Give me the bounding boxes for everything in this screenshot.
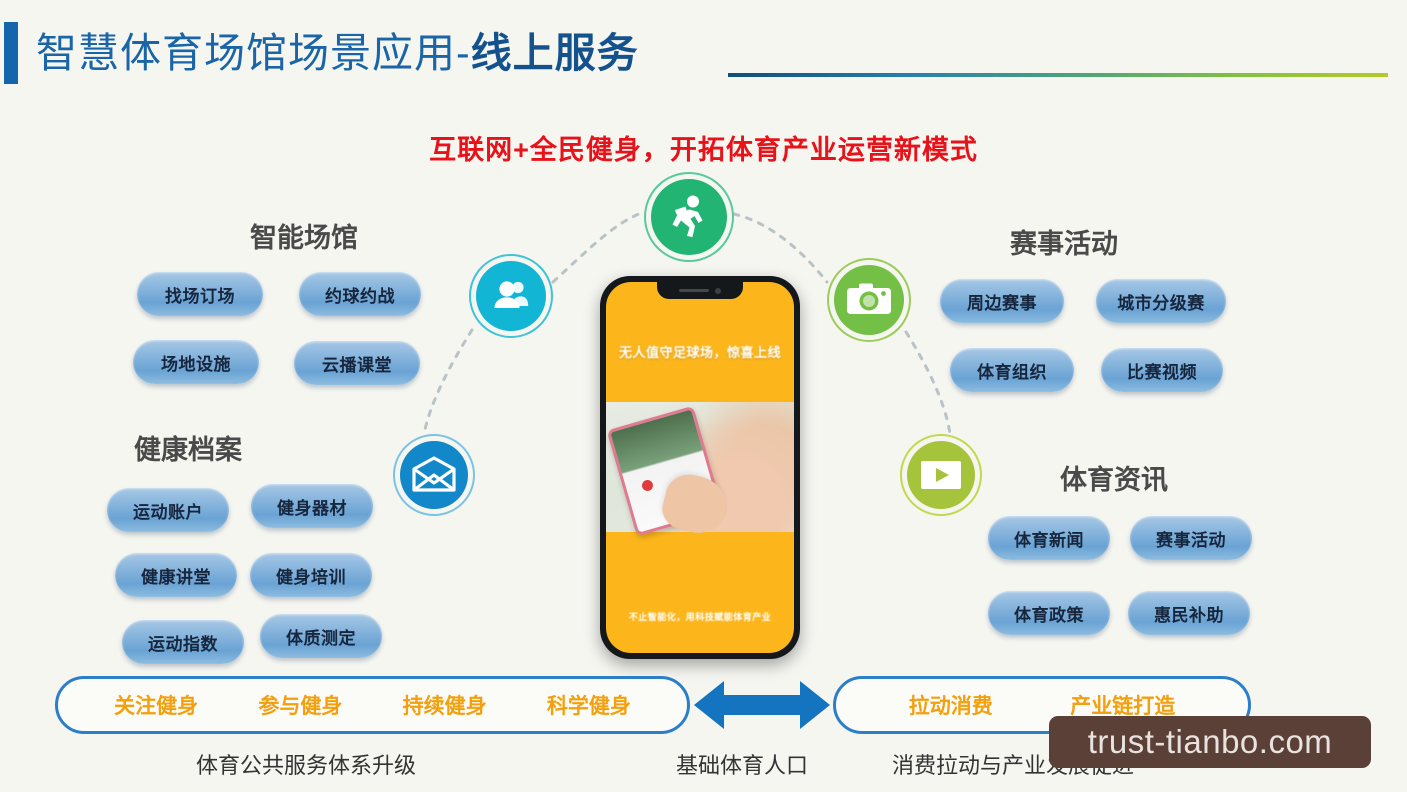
pill-venue-0[interactable]: 找场订场 bbox=[137, 272, 263, 316]
section-title-venue: 智能场馆 bbox=[250, 216, 358, 255]
page-title: 智慧体育场馆场景应用-线上服务 bbox=[36, 24, 639, 82]
pill-health-5[interactable]: 体质测定 bbox=[260, 614, 382, 658]
caption-left: 体育公共服务体系升级 bbox=[196, 748, 416, 780]
caption-center: 基础体育人口 bbox=[676, 748, 808, 780]
pill-health-1[interactable]: 健身器材 bbox=[251, 484, 373, 528]
pill-venue-3[interactable]: 云播课堂 bbox=[294, 341, 420, 385]
pill-events-0[interactable]: 周边赛事 bbox=[940, 279, 1064, 323]
phone-mockup: 无人值守足球场，惊喜上线 不止智能化，用科技赋能体育产业 bbox=[600, 276, 800, 659]
pill-events-2[interactable]: 体育组织 bbox=[950, 348, 1074, 392]
video-play-icon[interactable] bbox=[900, 434, 982, 516]
header-gradient-rule bbox=[728, 73, 1388, 77]
section-title-news: 体育资讯 bbox=[1060, 458, 1168, 497]
pill-venue-2[interactable]: 场地设施 bbox=[133, 340, 259, 384]
pill-health-2[interactable]: 健康讲堂 bbox=[115, 553, 237, 597]
pill-health-0[interactable]: 运动账户 bbox=[107, 488, 229, 532]
pill-news-0[interactable]: 体育新闻 bbox=[988, 516, 1110, 560]
subtitle: 互联网+全民健身，开拓体育产业运营新模式 bbox=[0, 128, 1407, 167]
section-title-health: 健康档案 bbox=[134, 428, 242, 467]
page-title-strong: 线上服务 bbox=[471, 30, 639, 76]
pill-venue-1[interactable]: 约球约战 bbox=[299, 272, 421, 316]
phone-front-camera-icon bbox=[715, 288, 721, 294]
pill-health-4[interactable]: 运动指数 bbox=[122, 620, 244, 664]
phone-footline: 不止智能化，用科技赋能体育产业 bbox=[606, 610, 794, 623]
title-accent-bar bbox=[4, 22, 18, 84]
camera-icon[interactable] bbox=[827, 258, 911, 342]
section-title-events: 赛事活动 bbox=[1010, 222, 1118, 261]
phone-speaker bbox=[679, 289, 709, 292]
phone-screen: 无人值守足球场，惊喜上线 不止智能化，用科技赋能体育产业 bbox=[606, 282, 794, 653]
pill-news-2[interactable]: 体育政策 bbox=[988, 591, 1110, 635]
page-title-main: 智慧体育场馆场景应用- bbox=[36, 30, 471, 76]
phone-photo bbox=[606, 402, 794, 532]
mail-icon[interactable] bbox=[393, 434, 475, 516]
bar-left-item-1[interactable]: 参与健身 bbox=[258, 690, 342, 720]
pill-events-1[interactable]: 城市分级赛 bbox=[1096, 279, 1226, 323]
pill-health-3[interactable]: 健身培训 bbox=[250, 553, 372, 597]
bar-left-item-2[interactable]: 持续健身 bbox=[403, 690, 487, 720]
pill-news-3[interactable]: 惠民补助 bbox=[1128, 591, 1250, 635]
pill-events-3[interactable]: 比赛视频 bbox=[1101, 348, 1223, 392]
phone-headline: 无人值守足球场，惊喜上线 bbox=[606, 342, 794, 361]
running-person-icon[interactable] bbox=[644, 172, 734, 262]
bar-right-item-0[interactable]: 拉动消费 bbox=[909, 690, 993, 720]
watermark: trust-tianbo.com bbox=[1049, 716, 1371, 768]
user-icon[interactable] bbox=[469, 254, 553, 338]
page-header: 智慧体育场馆场景应用-线上服务 bbox=[0, 0, 1407, 104]
phone-notch bbox=[657, 282, 743, 299]
double-arrow-icon bbox=[694, 679, 830, 731]
bar-left-item-3[interactable]: 科学健身 bbox=[547, 690, 631, 720]
bottom-bar-left: 关注健身 参与健身 持续健身 科学健身 bbox=[55, 676, 690, 734]
bar-left-item-0[interactable]: 关注健身 bbox=[114, 690, 198, 720]
pill-news-1[interactable]: 赛事活动 bbox=[1130, 516, 1252, 560]
